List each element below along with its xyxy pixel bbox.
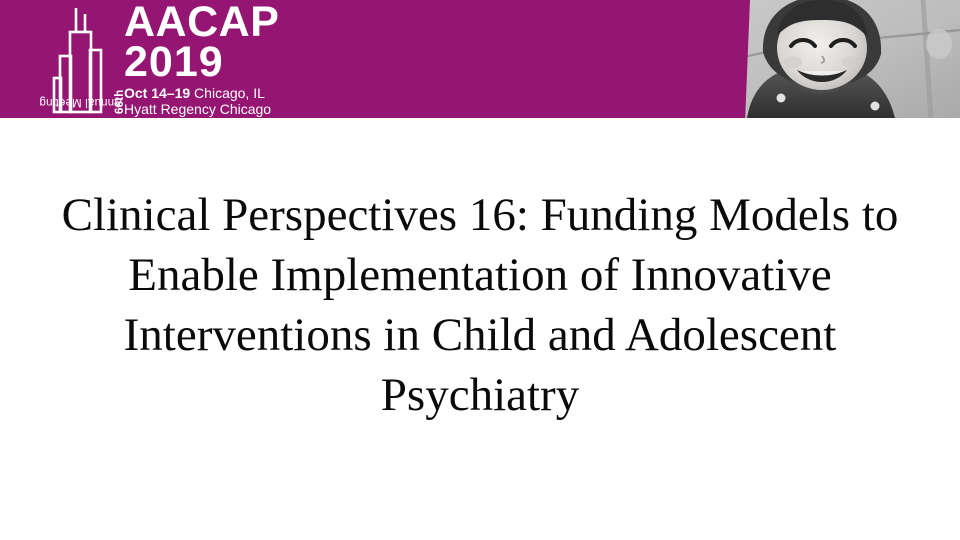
conference-dates-location: Oct 14–19 Chicago, IL xyxy=(124,85,279,101)
aacap-wordmark: AACAP 2019 Oct 14–19 Chicago, IL Hyatt R… xyxy=(124,2,279,117)
conference-city: Chicago, IL xyxy=(190,85,265,101)
title-block: Clinical Perspectives 16: Funding Models… xyxy=(48,185,912,425)
conference-banner: 66th Annual Meeting AACAP 2019 Oct 14–19… xyxy=(0,0,960,118)
conference-dates: Oct 14–19 xyxy=(124,85,190,101)
child-photo-image xyxy=(725,0,960,118)
slide-title: Clinical Perspectives 16: Funding Models… xyxy=(48,185,912,425)
slide: 66th Annual Meeting AACAP 2019 Oct 14–19… xyxy=(0,0,960,540)
aacap-logo-lockup: 66th Annual Meeting AACAP 2019 Oct 14–19… xyxy=(52,0,532,118)
conference-venue: Hyatt Regency Chicago xyxy=(124,101,279,117)
banner-photo xyxy=(725,0,960,118)
conference-year: 2019 xyxy=(124,42,279,83)
banner-magenta-wedge xyxy=(710,0,750,118)
organization-name: AACAP xyxy=(124,2,279,42)
meeting-label: Annual Meeting xyxy=(39,96,122,108)
